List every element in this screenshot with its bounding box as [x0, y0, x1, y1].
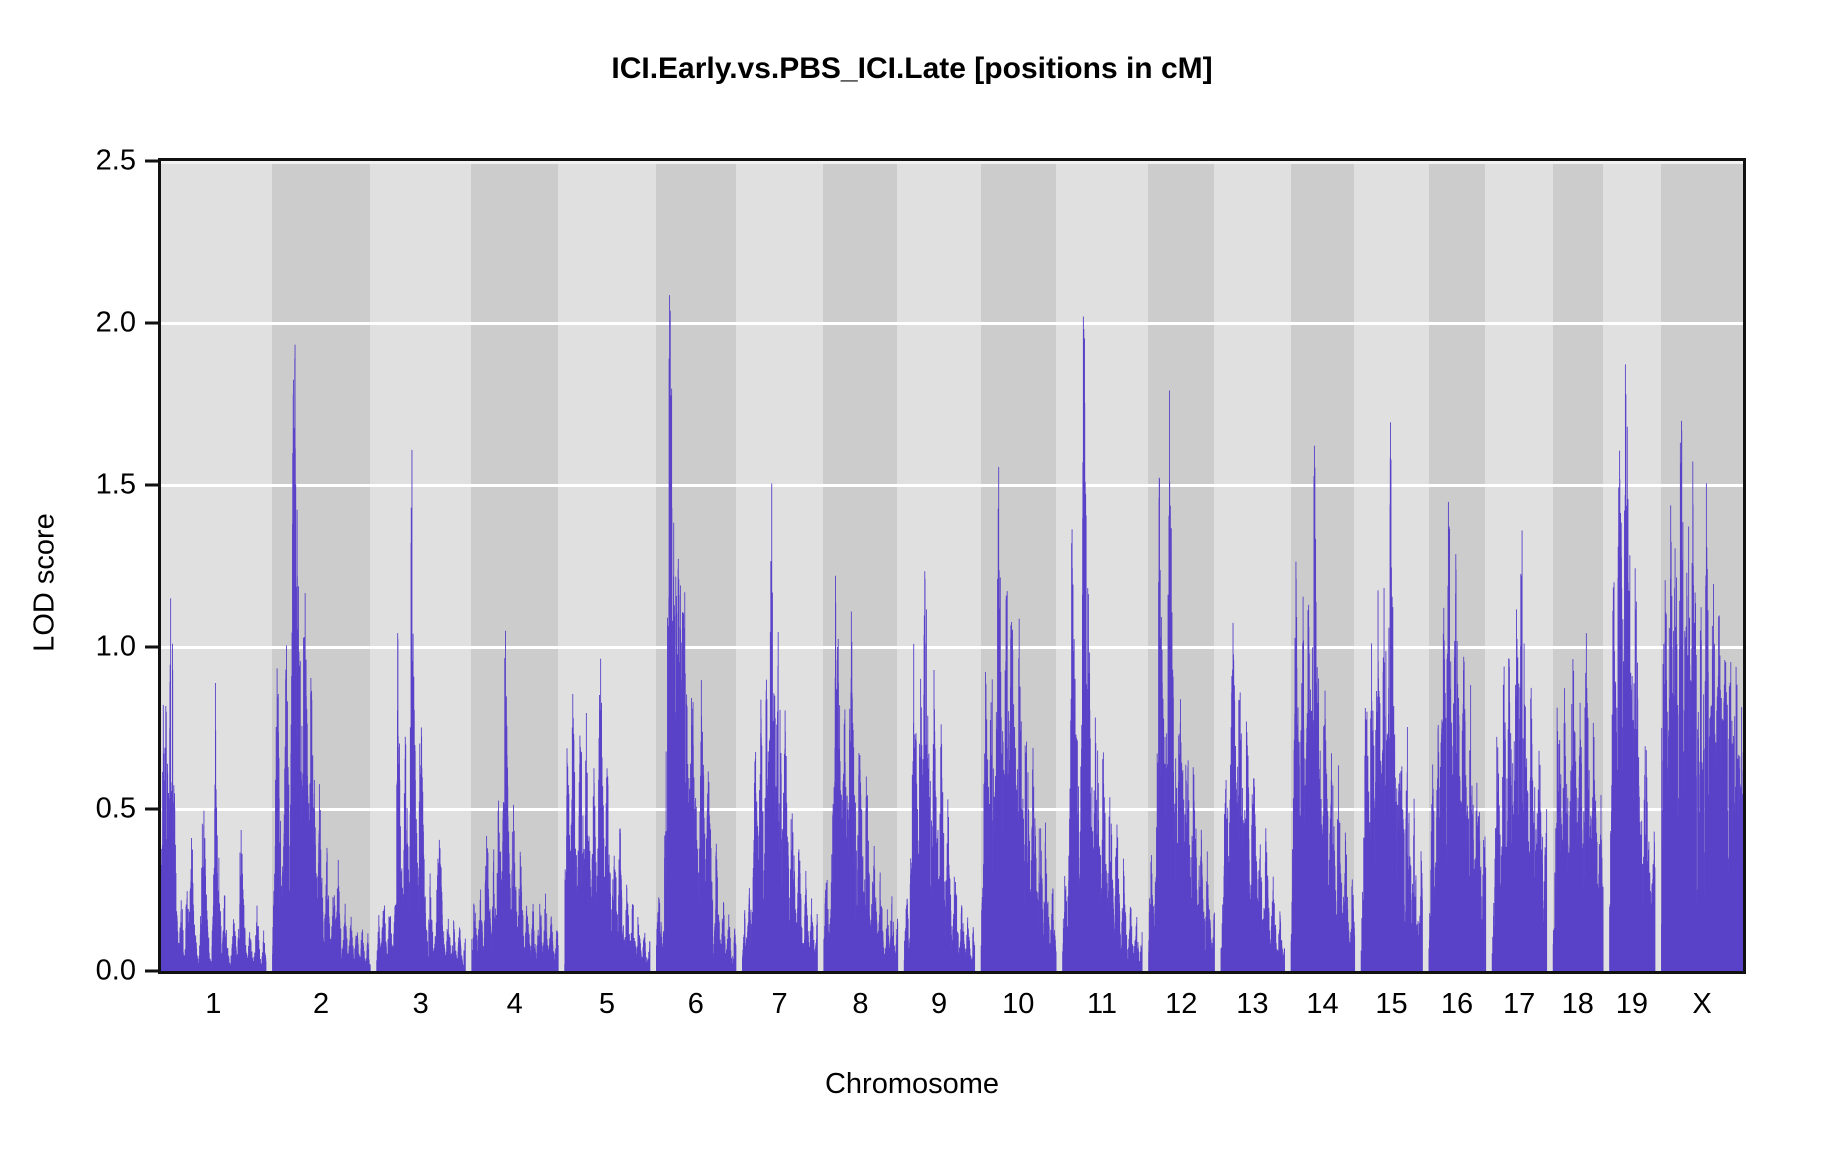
lod-trace [161, 161, 1743, 971]
lod-spikes-chr-10 [981, 467, 1057, 971]
lod-spikes-chr-18 [1553, 633, 1604, 971]
x-tick-label-chr-9: 9 [931, 988, 947, 1021]
lod-spikes-chr-17 [1492, 531, 1547, 971]
x-tick-label-chr-16: 16 [1441, 988, 1473, 1021]
x-tick-label-chr-19: 19 [1616, 988, 1648, 1021]
y-tick-label-1.5: 1.5 [16, 469, 136, 502]
x-tick-label-chr-8: 8 [852, 988, 868, 1021]
lod-spikes-chr-2 [272, 345, 371, 971]
lod-spikes-chr-8 [823, 576, 898, 971]
x-tick-label-chr-10: 10 [1002, 988, 1034, 1021]
lod-spikes-chr-5 [564, 659, 650, 971]
lod-spikes-chr-9 [904, 571, 975, 971]
x-tick-label-chr-13: 13 [1236, 988, 1268, 1021]
y-tick-mark-2.0 [145, 322, 158, 325]
x-tick-label-chr-2: 2 [313, 988, 329, 1021]
lod-spikes-chr-1 [161, 598, 266, 971]
lod-spikes-chr-12 [1148, 390, 1215, 971]
y-tick-label-2.0: 2.0 [16, 307, 136, 340]
y-tick-mark-1.0 [145, 646, 158, 649]
x-axis-title: Chromosome [0, 1068, 1824, 1101]
x-tick-label-chr-4: 4 [507, 988, 523, 1021]
lod-spikes-chr-19 [1609, 364, 1655, 971]
y-tick-mark-0.5 [145, 808, 158, 811]
x-tick-label-chr-6: 6 [688, 988, 704, 1021]
lod-spikes-chr-4 [471, 631, 558, 971]
x-tick-label-chr-15: 15 [1375, 988, 1407, 1021]
x-tick-label-chr-1: 1 [205, 988, 221, 1021]
plot-inner [161, 161, 1743, 971]
lod-spikes-chr-11 [1062, 317, 1142, 971]
lod-spikes-chr-3 [376, 450, 465, 971]
y-tick-mark-2.5 [145, 160, 158, 163]
lod-spikes-chr-14 [1291, 446, 1355, 971]
lod-spikes-chr-6 [656, 295, 736, 971]
y-tick-mark-1.5 [145, 484, 158, 487]
lod-spikes-chr-15 [1361, 422, 1423, 971]
x-tick-label-chr-11: 11 [1087, 988, 1117, 1021]
lod-spikes-chr-X [1661, 421, 1743, 971]
x-tick-label-chr-18: 18 [1562, 988, 1594, 1021]
x-tick-label-chr-12: 12 [1165, 988, 1197, 1021]
plot-area [158, 158, 1746, 974]
x-tick-label-chr-14: 14 [1306, 988, 1338, 1021]
y-tick-label-0.5: 0.5 [16, 793, 136, 826]
lod-spikes-chr-16 [1429, 502, 1487, 971]
x-tick-label-chr-3: 3 [413, 988, 429, 1021]
y-tick-label-0.0: 0.0 [16, 955, 136, 988]
chart-title: ICI.Early.vs.PBS_ICI.Late [positions in … [0, 52, 1824, 86]
x-tick-label-chr-X: X [1692, 988, 1711, 1021]
lod-spikes-chr-7 [742, 484, 818, 971]
x-tick-label-chr-5: 5 [599, 988, 615, 1021]
y-tick-label-2.5: 2.5 [16, 145, 136, 178]
y-tick-label-1.0: 1.0 [16, 631, 136, 664]
lod-scan-figure: ICI.Early.vs.PBS_ICI.Late [positions in … [0, 0, 1824, 1152]
y-tick-mark-0.0 [145, 970, 158, 973]
x-tick-label-chr-7: 7 [771, 988, 787, 1021]
lod-spikes-chr-13 [1221, 623, 1285, 971]
x-tick-label-chr-17: 17 [1503, 988, 1535, 1021]
